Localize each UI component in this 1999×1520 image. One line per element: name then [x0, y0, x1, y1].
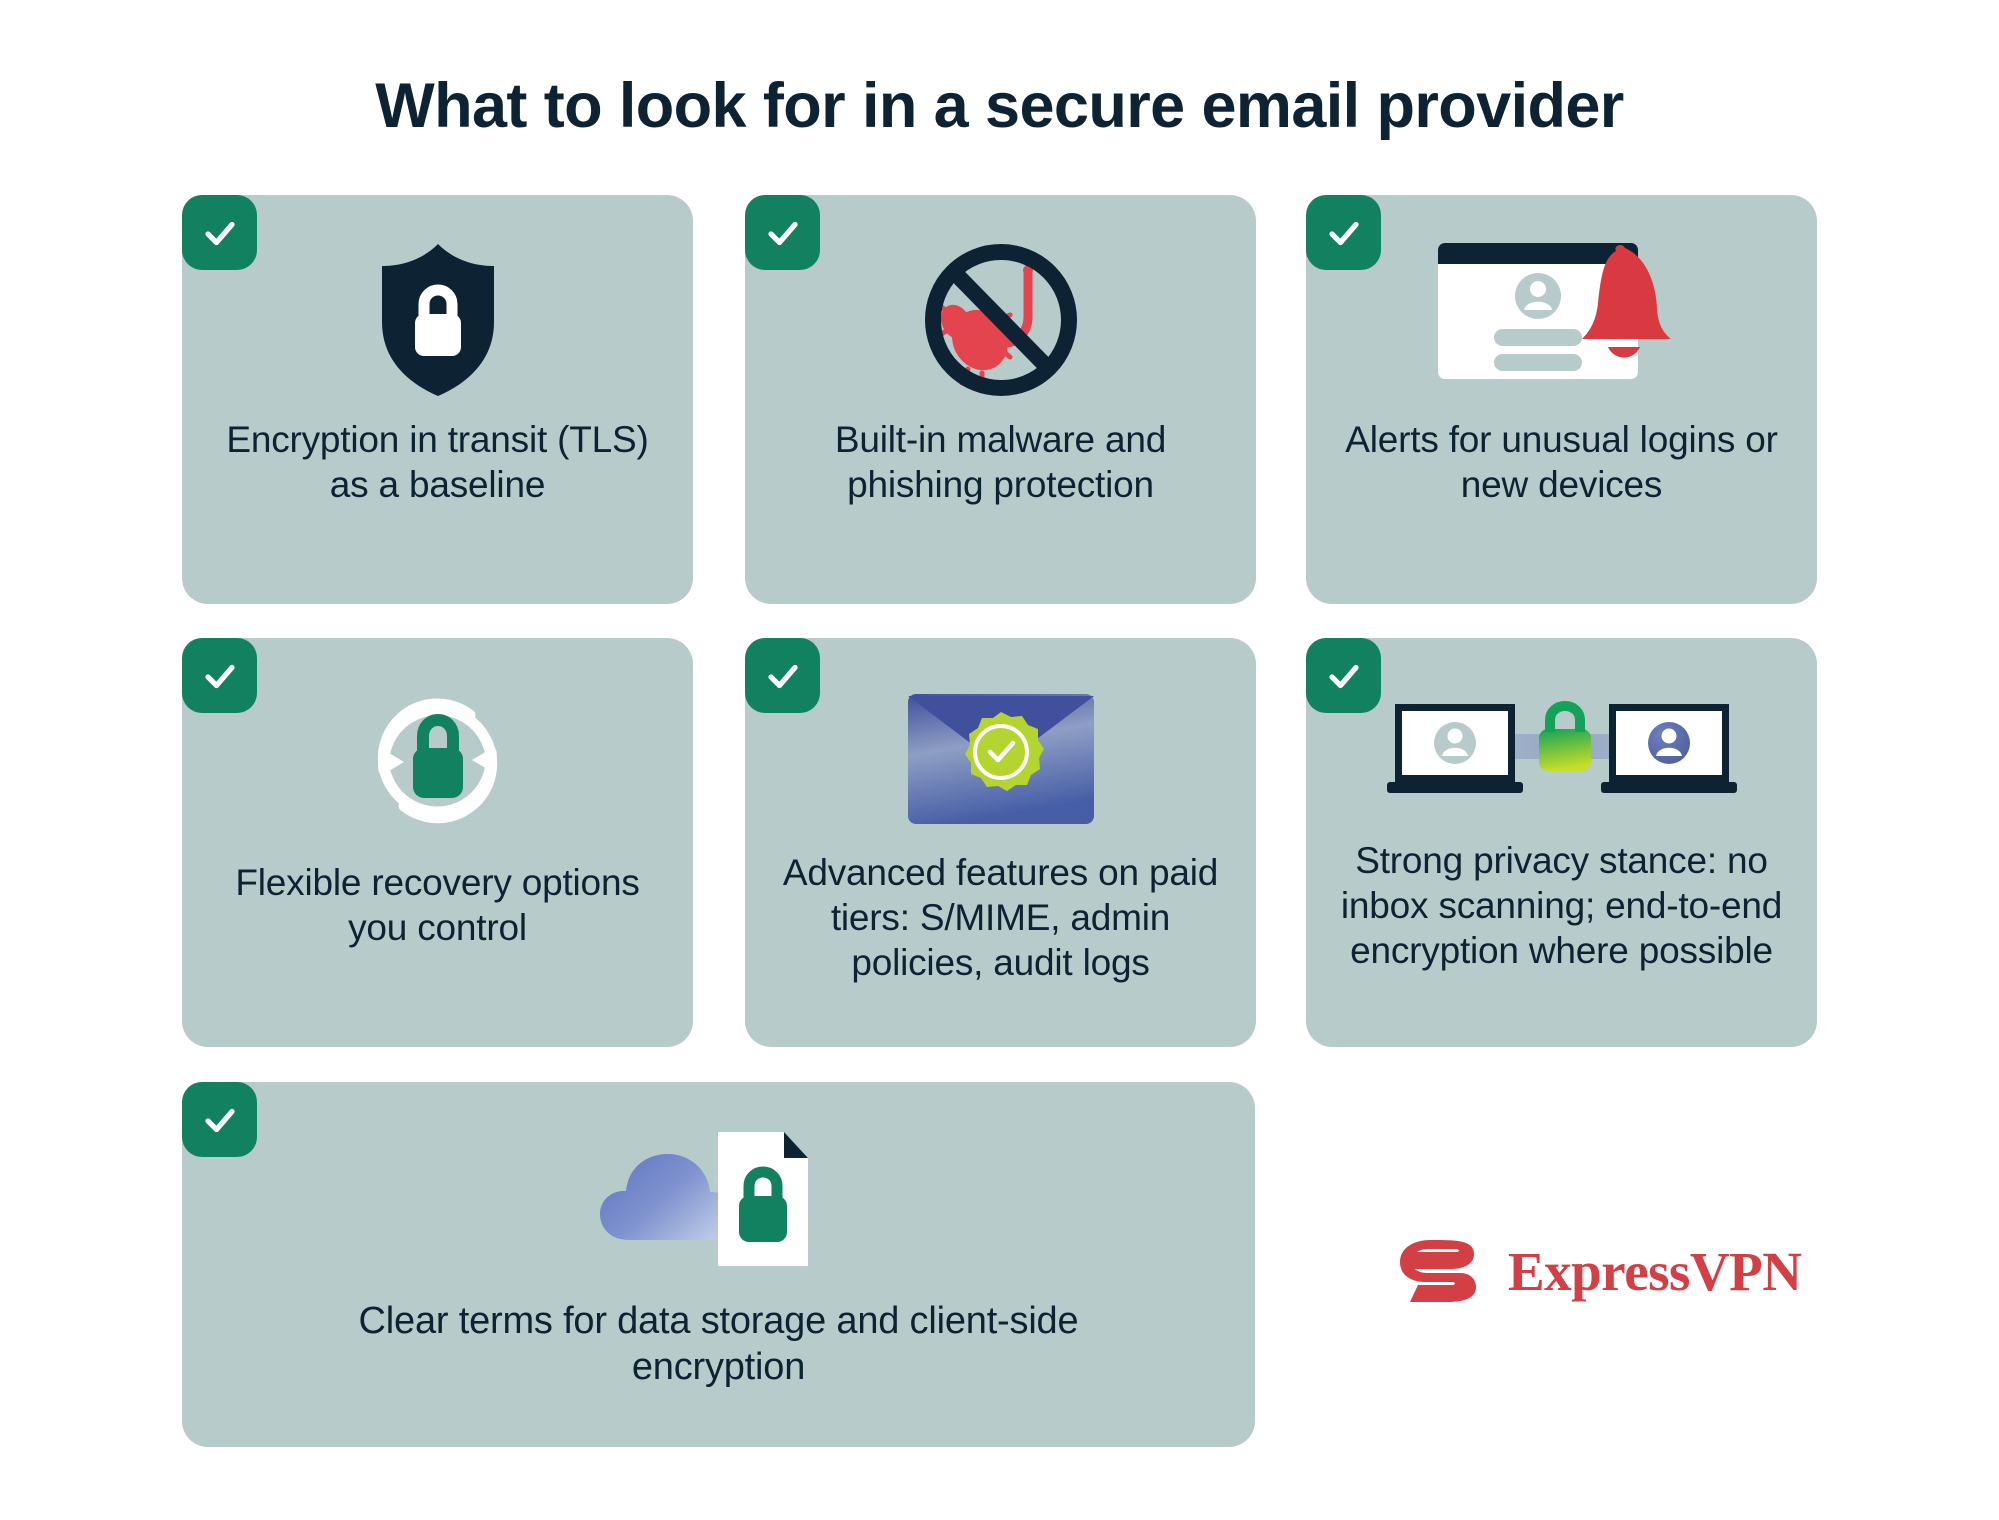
check-badge: [745, 195, 820, 270]
document-fold: [784, 1132, 808, 1158]
padlock-icon: [1539, 706, 1591, 771]
checklist-card-7: Clear terms for data storage and client-…: [182, 1082, 1255, 1447]
checklist-card-4-label: Flexible recovery options you control: [182, 860, 693, 950]
checklist-card-2-label: Built-in malware and phishing protection: [745, 417, 1256, 507]
checklist-card-1-label: Encryption in transit (TLS) as a baselin…: [182, 417, 693, 507]
check-badge: [182, 195, 257, 270]
checklist-card-1: Encryption in transit (TLS) as a baselin…: [182, 195, 693, 604]
checklist-card-3-label: Alerts for unusual logins or new devices: [1306, 417, 1817, 507]
checklist-card-5: Advanced features on paid tiers: S/MIME,…: [745, 638, 1256, 1047]
login-alert-bell-icon: [1306, 237, 1817, 389]
checklist-card-2: Built-in malware and phishing protection: [745, 195, 1256, 604]
expressvpn-wordmark: ExpressVPN: [1508, 1240, 1801, 1303]
checklist-card-4: Flexible recovery options you control: [182, 638, 693, 1047]
check-icon: [198, 654, 242, 698]
check-badge: [1306, 638, 1381, 713]
no-malware-phishing-icon: [745, 239, 1256, 401]
infographic-root: What to look for in a secure email provi…: [0, 0, 1999, 1520]
laptop-left-icon: [1387, 704, 1523, 793]
checklist-card-6-label: Strong privacy stance: no inbox scanning…: [1306, 838, 1817, 973]
check-icon: [1322, 211, 1366, 255]
laptop-right-icon: [1601, 704, 1737, 793]
check-icon: [761, 654, 805, 698]
check-icon: [1322, 654, 1366, 698]
lock-body: [413, 748, 463, 798]
check-badge: [182, 638, 257, 713]
recovery-lock-refresh-icon: [182, 682, 693, 838]
check-icon: [198, 1098, 242, 1142]
verified-envelope-icon: [745, 692, 1256, 826]
check-badge: [1306, 195, 1381, 270]
expressvpn-e-mark: [1398, 1238, 1490, 1304]
encrypted-laptops-icon: [1306, 694, 1817, 808]
checklist-card-7-label: Clear terms for data storage and client-…: [182, 1298, 1255, 1391]
expressvpn-logo: ExpressVPN: [1398, 1238, 1801, 1304]
cloud-document-lock-icon: [182, 1118, 1255, 1278]
check-icon: [761, 211, 805, 255]
page-title: What to look for in a secure email provi…: [0, 70, 1999, 142]
check-badge: [182, 1082, 257, 1157]
shield-lock-icon: [182, 240, 693, 400]
checklist-card-3: Alerts for unusual logins or new devices: [1306, 195, 1817, 604]
check-badge: [745, 638, 820, 713]
check-icon: [198, 211, 242, 255]
checklist-card-6: Strong privacy stance: no inbox scanning…: [1306, 638, 1817, 1047]
checklist-card-5-label: Advanced features on paid tiers: S/MIME,…: [745, 850, 1256, 985]
